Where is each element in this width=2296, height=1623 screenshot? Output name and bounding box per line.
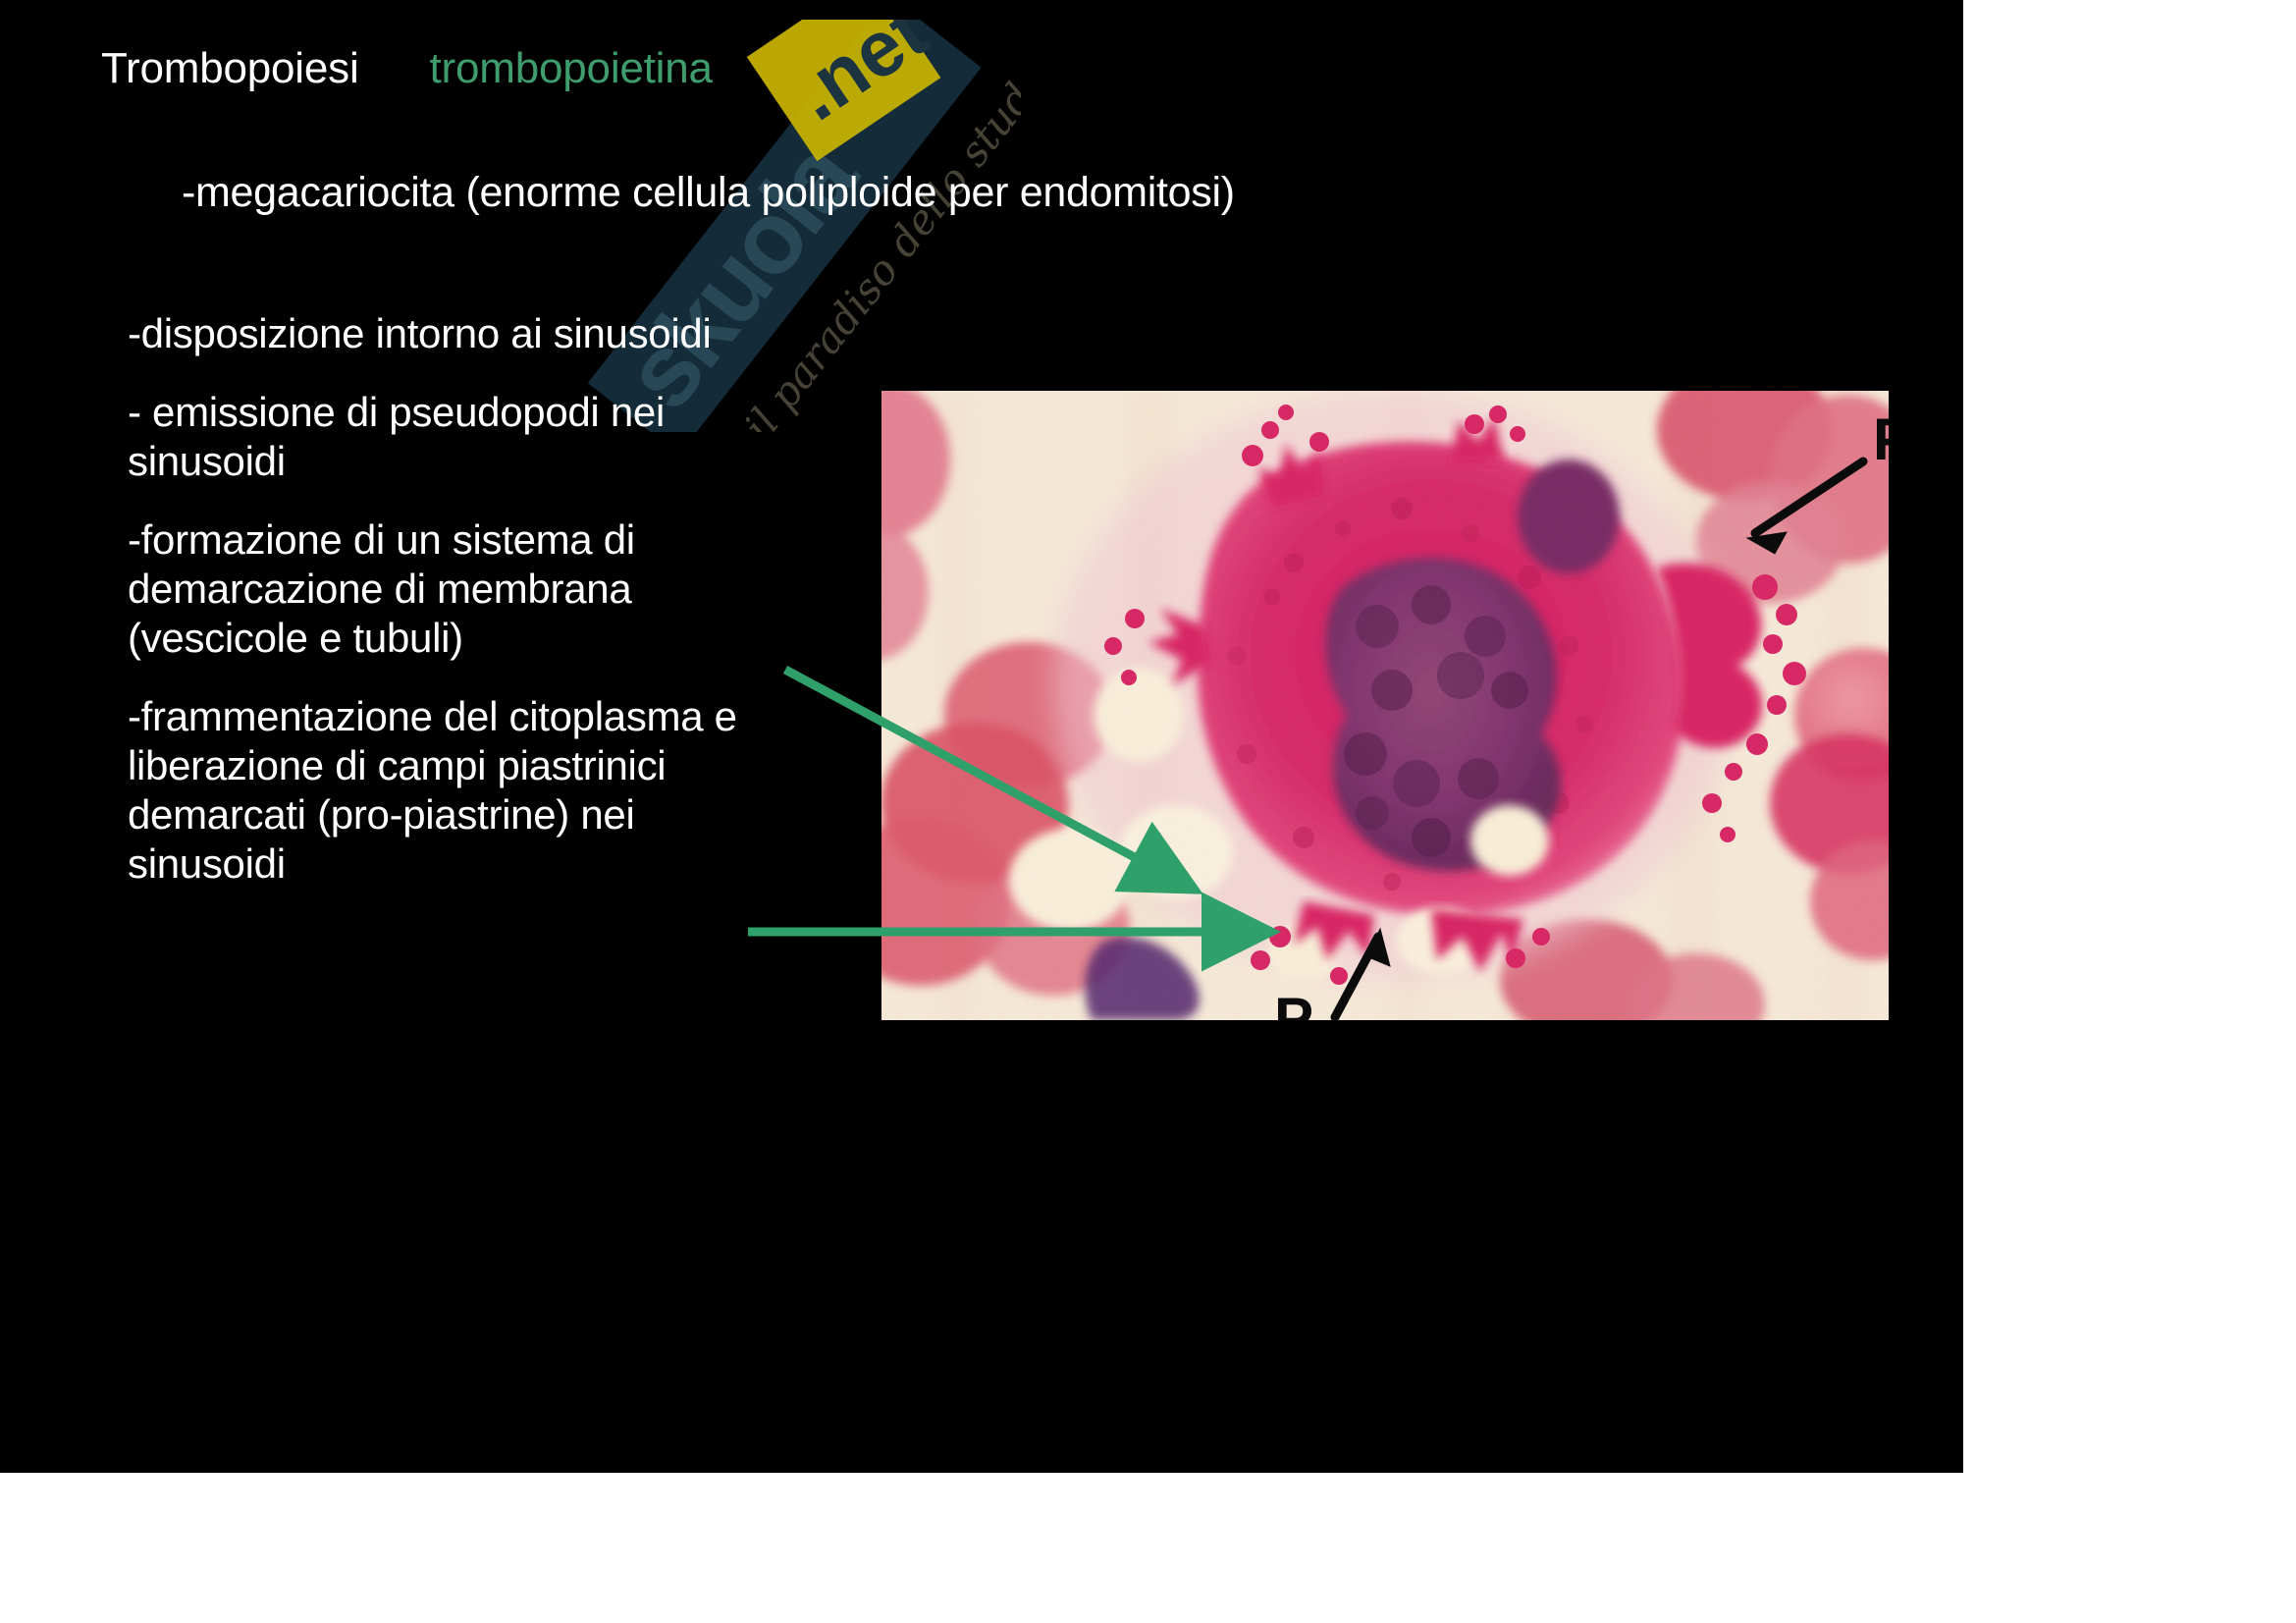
megakaryocyte-definition-line: -megacariocita (enorme cellula poliploid…: [182, 169, 1235, 217]
page-subtitle-green: trombopoietina: [430, 44, 713, 93]
slide-heading: Trombopoiesi trombopoietina: [101, 44, 713, 93]
list-item: -formazione di un sistema di demarcazion…: [128, 515, 756, 663]
list-item: - emissione di pseudopodi nei sinusoidi: [128, 388, 756, 486]
micrograph-label-p-lower: P: [1274, 986, 1313, 1020]
list-item: -frammentazione del citoplasma e liberaz…: [128, 692, 756, 889]
watermark-domain: .net: [777, 20, 942, 136]
list-item: -disposizione intorno ai sinusoidi: [128, 309, 756, 358]
watermark-tagline: il paradiso dello studente: [734, 20, 1021, 432]
micrograph-label-p-upper: P: [1873, 406, 1889, 472]
page-title: Trombopoiesi: [101, 44, 359, 93]
megakaryocyte-micrograph: P P: [881, 391, 1889, 1020]
slide-canvas: skuola .net il paradiso dello studente T…: [0, 0, 1963, 1473]
bullet-list: -disposizione intorno ai sinusoidi - emi…: [128, 309, 756, 889]
